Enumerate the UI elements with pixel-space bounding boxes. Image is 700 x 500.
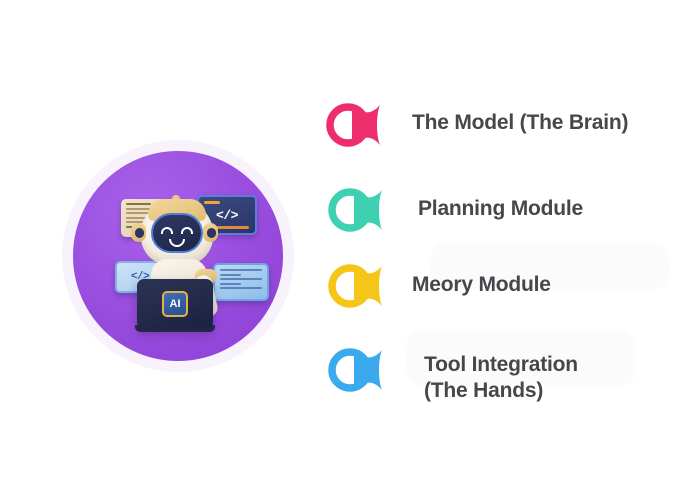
robot-ear-dot-left xyxy=(135,228,144,238)
feature-label: Planning Module xyxy=(418,196,583,222)
feature-label: The Model (The Brain) xyxy=(412,110,628,136)
laptop-icon: AI xyxy=(137,279,213,329)
ring-flare-icon xyxy=(322,98,384,152)
ai-chip-icon: AI xyxy=(162,291,188,317)
ring-flare-icon xyxy=(324,343,386,397)
ring-flare-icon xyxy=(324,183,386,237)
ring-flare-icon xyxy=(324,259,386,313)
slide-canvas: </> </> xyxy=(0,0,700,500)
ai-robot-illustration: </> </> xyxy=(62,140,294,372)
feature-item-planning-module[interactable]: Planning Module xyxy=(324,183,583,237)
robot-ear-dot-right xyxy=(207,228,216,238)
robot-face-screen xyxy=(151,213,203,253)
robot-figure: AI xyxy=(119,197,239,347)
robot-eye-right xyxy=(181,227,193,234)
feature-item-tool-integration[interactable]: Tool Integration (The Hands) xyxy=(324,343,578,403)
feature-item-meory-module[interactable]: Meory Module xyxy=(324,259,551,313)
robot-smile xyxy=(169,239,185,247)
purple-disc: </> </> xyxy=(73,151,283,361)
feature-label: Tool Integration (The Hands) xyxy=(424,352,578,403)
ai-chip-label: AI xyxy=(170,299,181,310)
robot-eye-left xyxy=(161,227,173,234)
feature-label: Meory Module xyxy=(412,272,551,298)
feature-item-the-model[interactable]: The Model (The Brain) xyxy=(322,98,628,152)
